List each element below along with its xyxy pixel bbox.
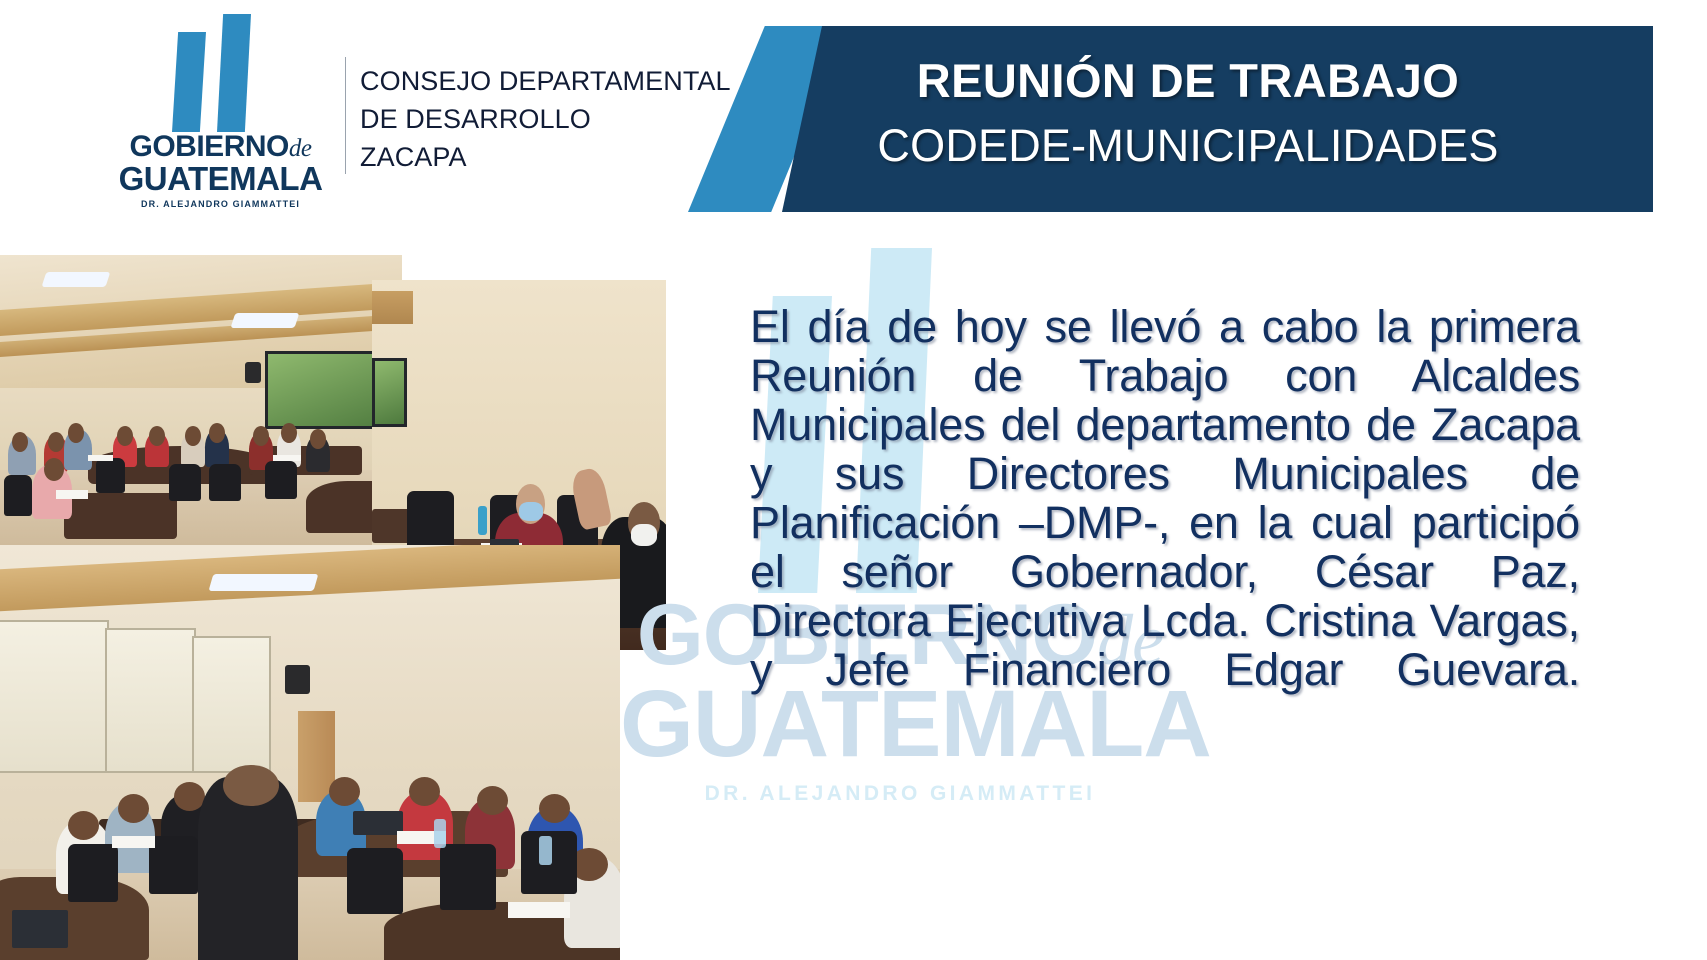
council-name-line-2: DE DESARROLLO [360,100,700,138]
presenter-chair-1 [68,844,118,902]
chair-3 [209,464,241,502]
page-header: GOBIERNOde GUATEMALA DR. ALEJANDRO GIAMM… [0,0,1707,240]
pillar-bar-right [217,14,251,132]
water-bottle-teal [478,506,487,536]
logo-gobierno-text: GOBIERNO [130,130,289,163]
council-name-line-1: CONSEJO DEPARTAMENTAL [360,62,700,100]
wall-speaker [245,362,261,382]
speaker-ceiling-beam [372,291,413,324]
attendee-5-head [117,426,133,446]
presenter-bottle-1 [434,819,446,848]
header-vertical-divider [345,57,346,174]
chair-4 [265,461,297,499]
ceiling-light-2 [231,313,300,328]
presenter-wall-speaker [285,665,310,694]
paper-2 [56,490,88,499]
presenter-laptop-1 [353,811,403,836]
presenter-standing-head [223,765,279,807]
conference-table-front [64,493,177,539]
banner-title: REUNIÓN DE TRABAJO [788,48,1588,114]
presenter-attendee-1-head [68,811,99,840]
speaker-window [372,358,407,427]
council-name-line-3: ZACAPA [360,138,700,176]
chair-5 [4,475,32,516]
photo-presenter-scene [0,545,620,960]
paper-1 [88,455,112,461]
pillar-bar-left [172,32,206,132]
photo-room-wide [0,255,402,545]
title-banner: REUNIÓN DE TRABAJO CODEDE-MUNICIPALIDADE… [688,26,1653,212]
window-blind-1 [0,620,109,773]
chair-2 [169,464,201,502]
presenter-paper-3 [508,902,570,919]
presenter-attendee-2-head [118,794,149,823]
presenter-chair-4 [440,844,496,910]
content-pane: GOBIERNOde GUATEMALA DR. ALEJANDRO GIAMM… [620,240,1707,960]
council-name-block: CONSEJO DEPARTAMENTAL DE DESARROLLO ZACA… [360,62,700,176]
logo-wordmark-line-2: GUATEMALA [118,162,323,195]
ceiling-light-1 [42,272,111,287]
presenter-attendee-7-head [477,786,508,815]
attendee-6-head [149,426,165,446]
presenter-attendee-3-head [174,782,205,811]
presenter-chair-3 [347,848,403,914]
logo-president-name: DR. ALEJANDRO GIAMMATTEI [118,199,323,209]
body-paragraph: El día de hoy se llevó a cabo la primera… [750,302,1580,743]
window-blind-2 [105,628,196,773]
presenter-bottle-2 [539,836,551,865]
window-blind-3 [192,636,270,773]
photo-room-wide-scene [0,255,402,545]
presenter-laptop-2 [12,910,68,947]
chair-1 [96,458,124,493]
presenter-attendee-5-head [329,777,360,806]
logo-de-text: de [289,135,312,162]
seated-participant-red-mask [519,502,543,521]
watermark-president-name: DR. ALEJANDRO GIAMMATTEI [620,782,1180,806]
presenter-paper-1 [112,836,155,848]
presenter-ceiling-light [208,574,318,591]
guatemala-pillars-icon [164,14,284,132]
banner-subtitle: CODEDE-MUNICIPALIDADES [788,114,1588,178]
paper-3 [273,455,301,461]
logo-wordmark-line-1: GOBIERNOde [118,132,323,162]
gobierno-guatemala-logo: GOBIERNOde GUATEMALA DR. ALEJANDRO GIAMM… [118,14,323,219]
presenter-chair-2 [149,836,199,894]
attendee-11-head [310,429,326,449]
photo-presenter [0,545,620,960]
banner-text-block: REUNIÓN DE TRABAJO CODEDE-MUNICIPALIDADE… [788,48,1588,178]
